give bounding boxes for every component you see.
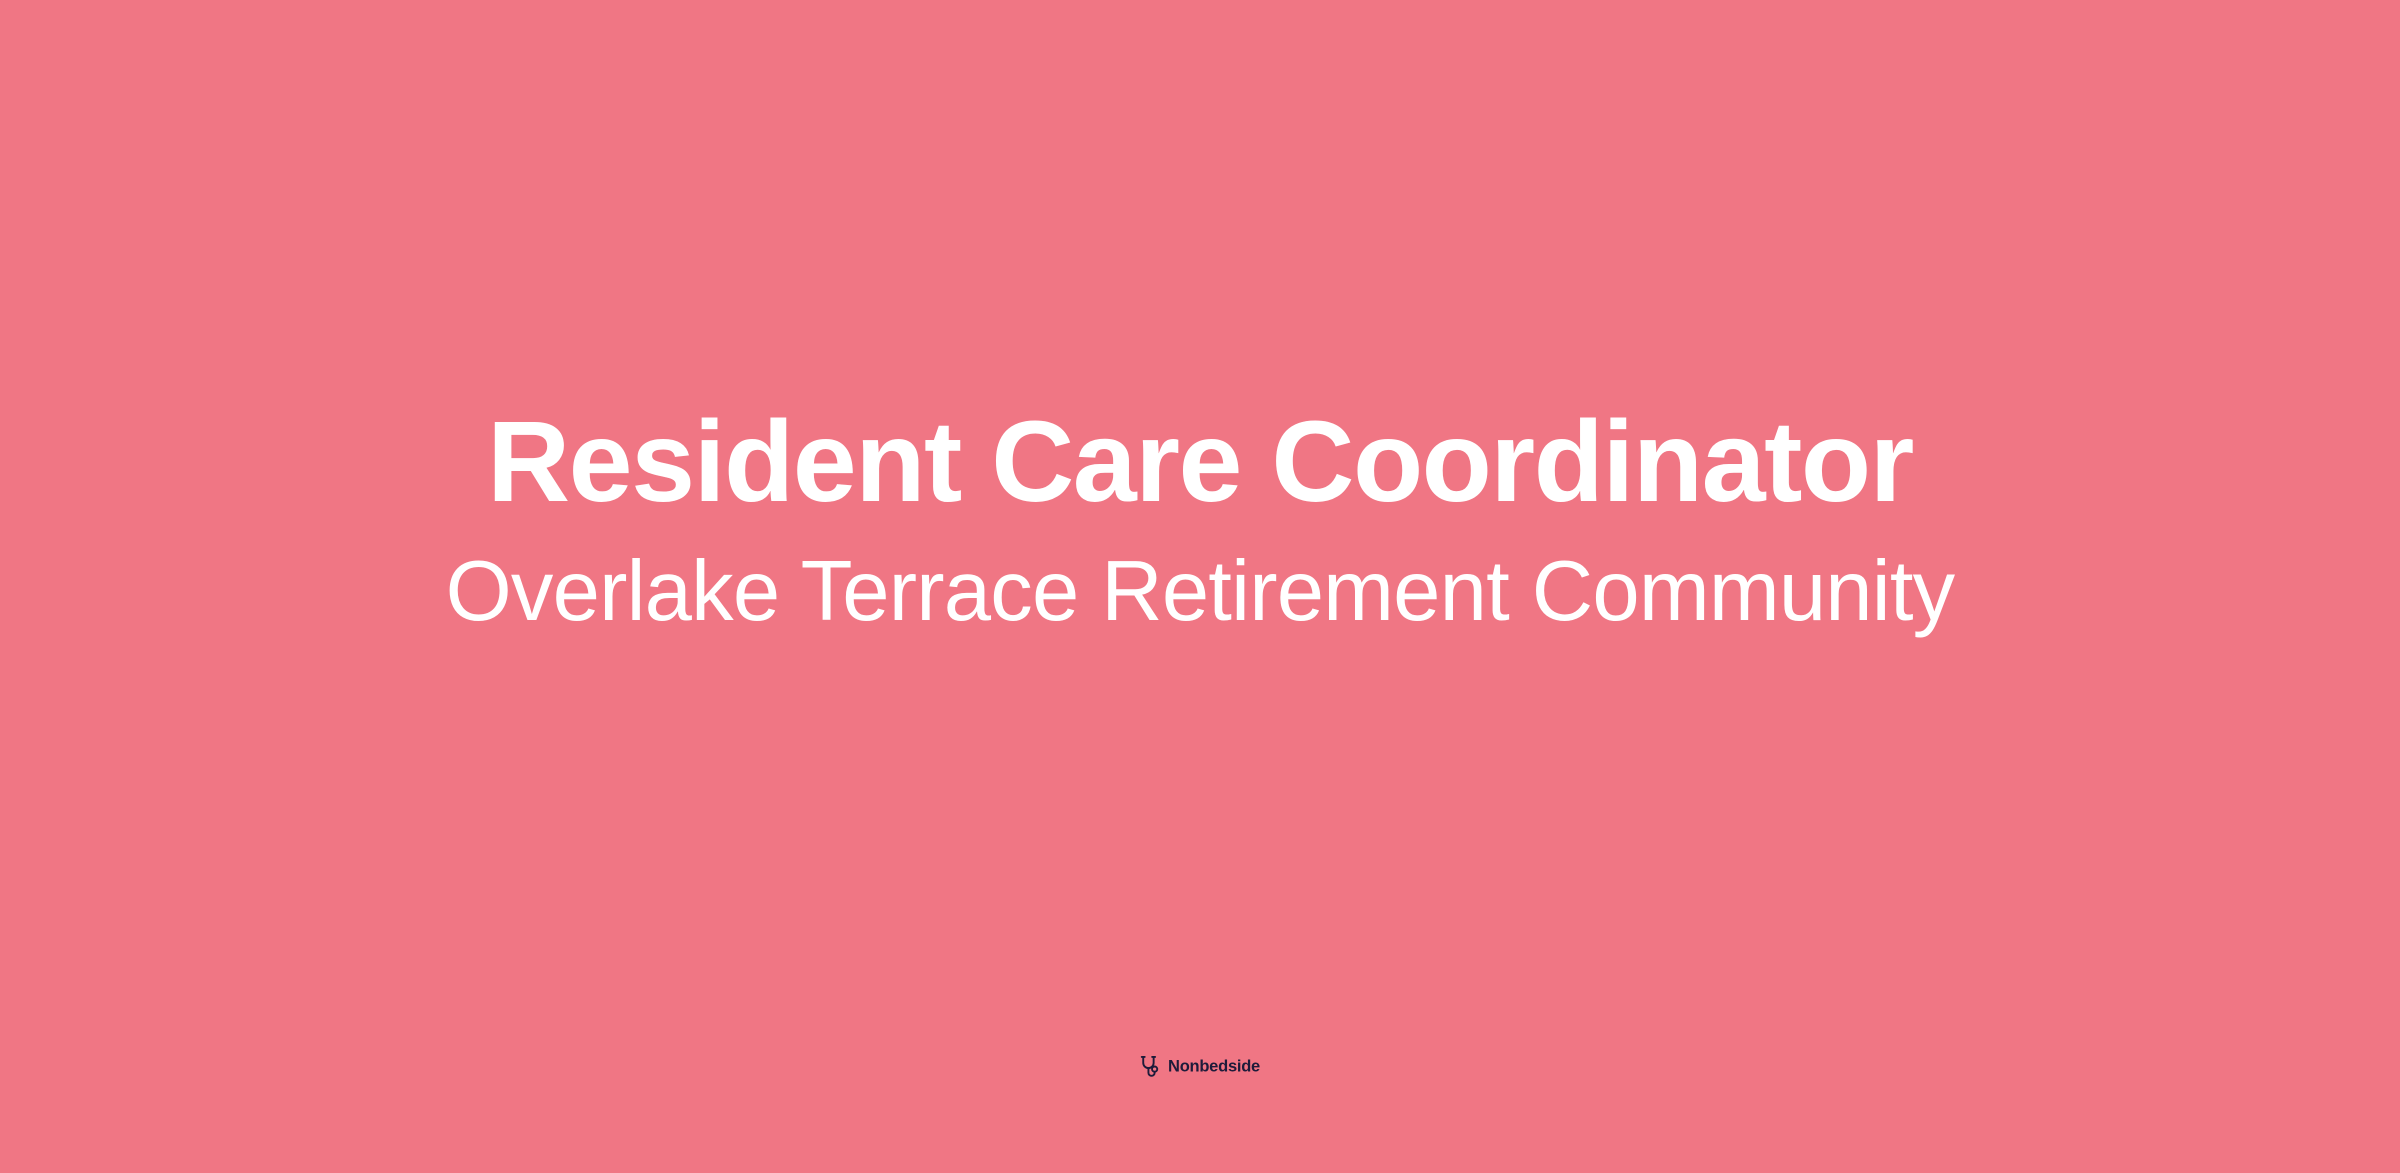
page-title: Resident Care Coordinator (487, 402, 1913, 524)
brand-lockup: Nonbedside (1140, 1055, 1260, 1080)
title-slide: Resident Care Coordinator Overlake Terra… (0, 0, 2400, 1173)
stethoscope-icon (1140, 1055, 1161, 1080)
page-subtitle: Overlake Terrace Retirement Community (446, 546, 1955, 638)
brand-name: Nonbedside (1168, 1059, 1260, 1076)
hero-text-block: Resident Care Coordinator Overlake Terra… (0, 0, 2400, 1040)
